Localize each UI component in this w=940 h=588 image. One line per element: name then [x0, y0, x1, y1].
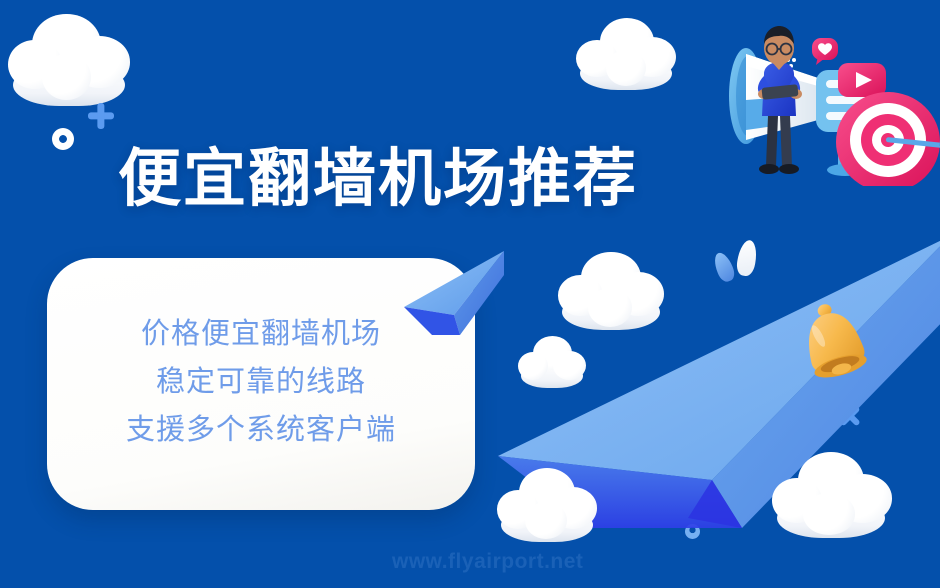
cloud-bottom-right — [772, 452, 890, 538]
paper-plane-small — [398, 245, 508, 340]
feature-line-2: 稳定可靠的线路 — [47, 358, 475, 406]
plus-icon — [88, 103, 114, 129]
watermark-text: www.flyairport.net — [392, 550, 583, 574]
ring-icon-top-left — [52, 128, 74, 150]
feature-line-3: 支援多个系统客户端 — [47, 406, 475, 454]
cloud-top-left — [8, 14, 130, 106]
marketing-illustration — [716, 8, 940, 186]
promo-banner: 价格便宜翻墙机场 稳定可靠的线路 支援多个系统客户端 便宜翻墙机场推荐 www.… — [0, 0, 940, 588]
banner-title: 便宜翻墙机场推荐 — [118, 128, 638, 219]
bell-icon — [795, 300, 873, 386]
cloud-top-center — [576, 18, 676, 90]
cloud-bottom-left — [497, 468, 597, 542]
